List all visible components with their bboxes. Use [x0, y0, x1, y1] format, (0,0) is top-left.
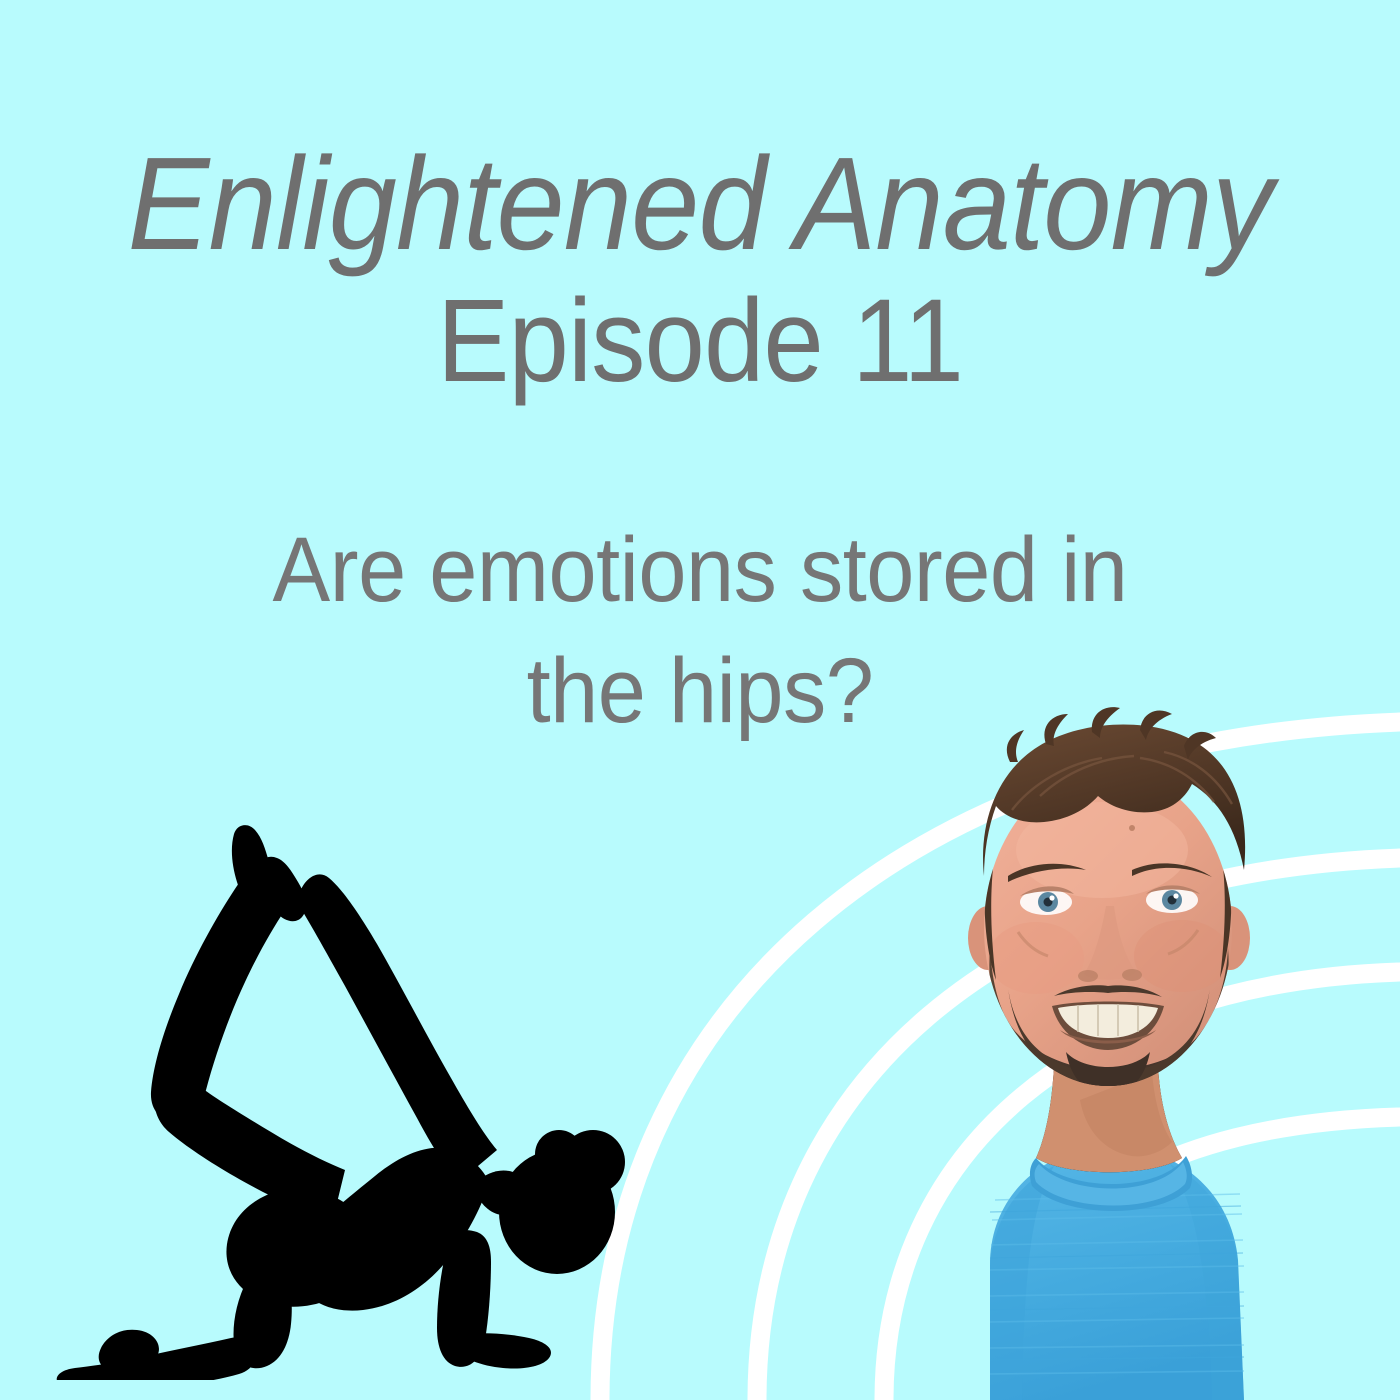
- portrait-head: [968, 707, 1250, 1098]
- host-portrait: [840, 700, 1400, 1400]
- yoga-pose-silhouette: [45, 810, 625, 1380]
- podcast-cover-art: Enlightened Anatomy Episode 11 Are emoti…: [0, 0, 1400, 1400]
